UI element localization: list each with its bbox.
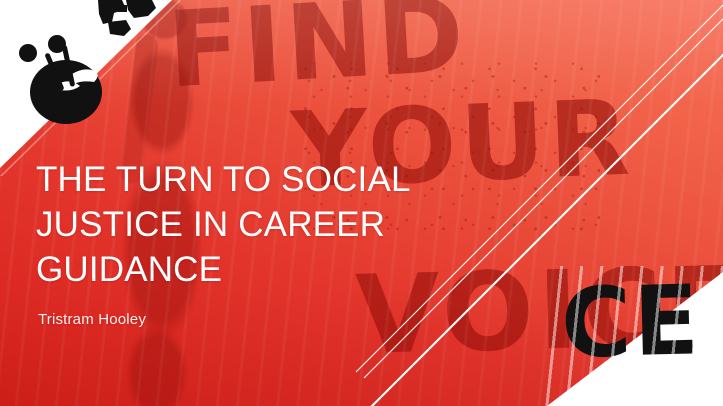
black-letters-mask: CE xyxy=(543,266,723,406)
podium-microphones-silhouette xyxy=(0,0,190,130)
title-slide: FIND YOUR VOICE CE xyxy=(0,0,723,406)
slide-subtitle-author: Tristram Hooley xyxy=(38,310,466,330)
black-letters-gap-texture xyxy=(543,266,723,406)
crowd-cluster-icon xyxy=(98,0,156,36)
page-title: THE TURN TO SOCIAL JUSTICE IN CAREER GUI… xyxy=(36,158,466,292)
title-text-block: THE TURN TO SOCIAL JUSTICE IN CAREER GUI… xyxy=(36,158,466,330)
speaker-bust-icon xyxy=(30,60,102,124)
